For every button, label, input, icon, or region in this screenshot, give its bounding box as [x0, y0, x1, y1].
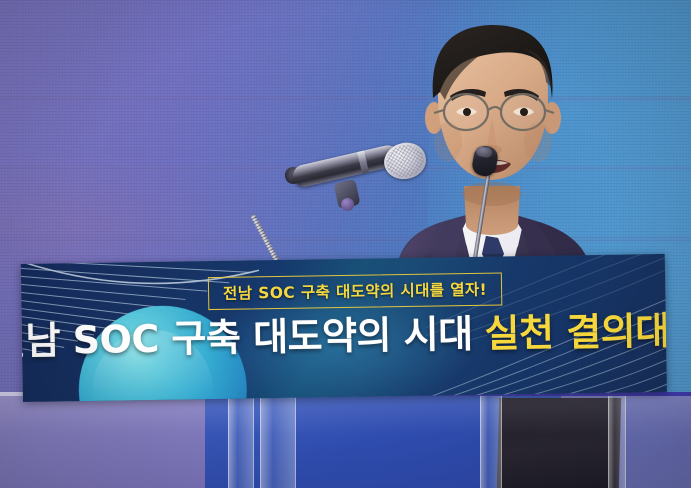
podium-acrylic-sheen: [0, 392, 691, 488]
banner-subtitle-text: 전남 SOC 구축 대도약의 시대를 열자!: [223, 278, 487, 304]
event-banner: 전남 SOC 구축 대도약의 시대를 열자! 전남 SOC 구축 대도약의 시대…: [21, 254, 667, 402]
microphone-clip-ring: [341, 198, 354, 211]
microphone-band: [357, 151, 369, 174]
banner-subtitle-box: 전남 SOC 구축 대도약의 시대를 열자!: [208, 272, 502, 310]
banner-title-row: 전남 SOC 구축 대도약의 시대 실천 결의대회: [21, 311, 667, 360]
screenshot-root: 전남 SOC 구축 대도약의 시대를 열자! 전남 SOC 구축 대도약의 시대…: [0, 0, 691, 488]
banner-title-primary: 전남 SOC 구축 대도약의 시대: [21, 315, 473, 361]
banner-title-accent: 실천 결의대회: [484, 311, 667, 352]
